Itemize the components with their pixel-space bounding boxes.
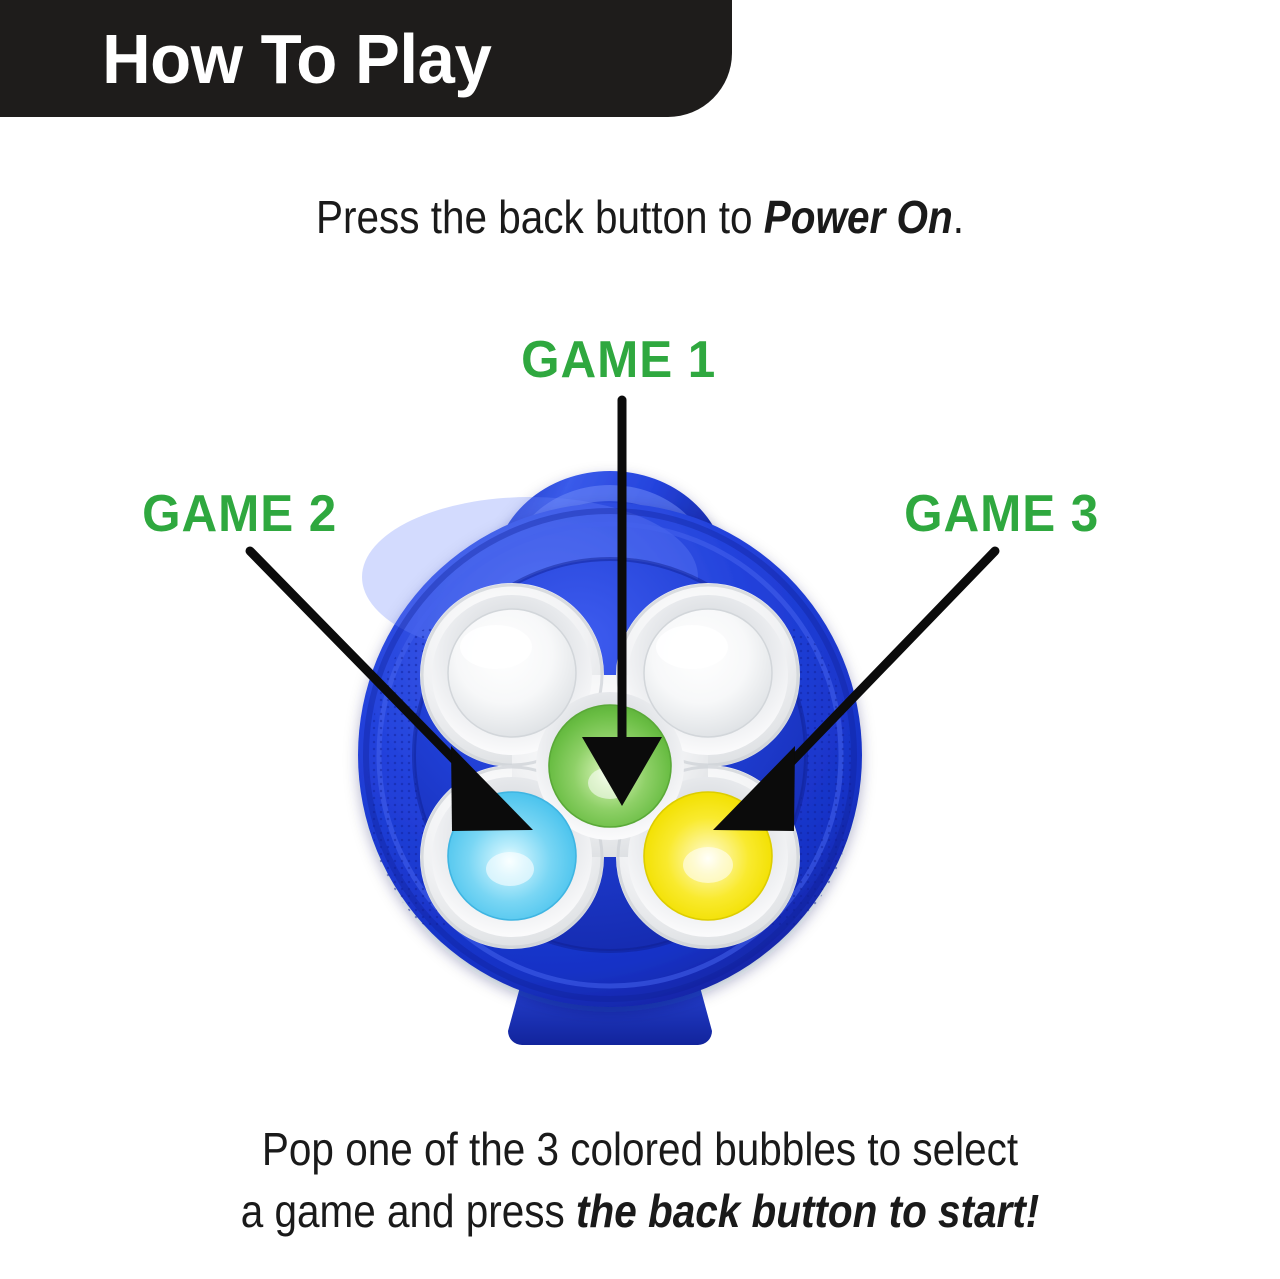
instruction-power-on: Press the back button to Power On. (77, 190, 1203, 244)
bubble-top-left-bubble (448, 609, 576, 737)
instruction-power-on-tail: . (953, 191, 964, 243)
instruction-select-game: Pop one of the 3 colored bubbles to sele… (77, 1118, 1203, 1242)
instruction-select-game-line-1: Pop one of the 3 colored bubbles to sele… (77, 1118, 1203, 1180)
instruction-select-game-line-2-plain: a game and press (241, 1185, 576, 1237)
callout-label-game-2: GAME 2 (142, 484, 337, 544)
bubble-blue-bubble (448, 792, 576, 920)
instruction-select-game-line-2: a game and press the back button to star… (77, 1180, 1203, 1242)
instruction-select-game-line-2-emphasis: the back button to start! (576, 1185, 1039, 1237)
pop-it-go-device: POP IT! GO® (330, 425, 890, 1050)
bubble-green-bubble (549, 705, 671, 827)
header-banner: How To Play (0, 0, 732, 117)
bubble-top-right-bubble (644, 609, 772, 737)
callout-label-game-3: GAME 3 (904, 484, 1099, 544)
page-title: How To Play (0, 13, 491, 99)
how-to-play-page: How To Play Press the back button to Pow… (0, 0, 1280, 1279)
callout-label-game-1: GAME 1 (521, 330, 716, 390)
instruction-power-on-plain: Press the back button to (316, 191, 764, 243)
bubble-yellow-bubble (644, 792, 772, 920)
instruction-power-on-emphasis: Power On (764, 191, 953, 243)
